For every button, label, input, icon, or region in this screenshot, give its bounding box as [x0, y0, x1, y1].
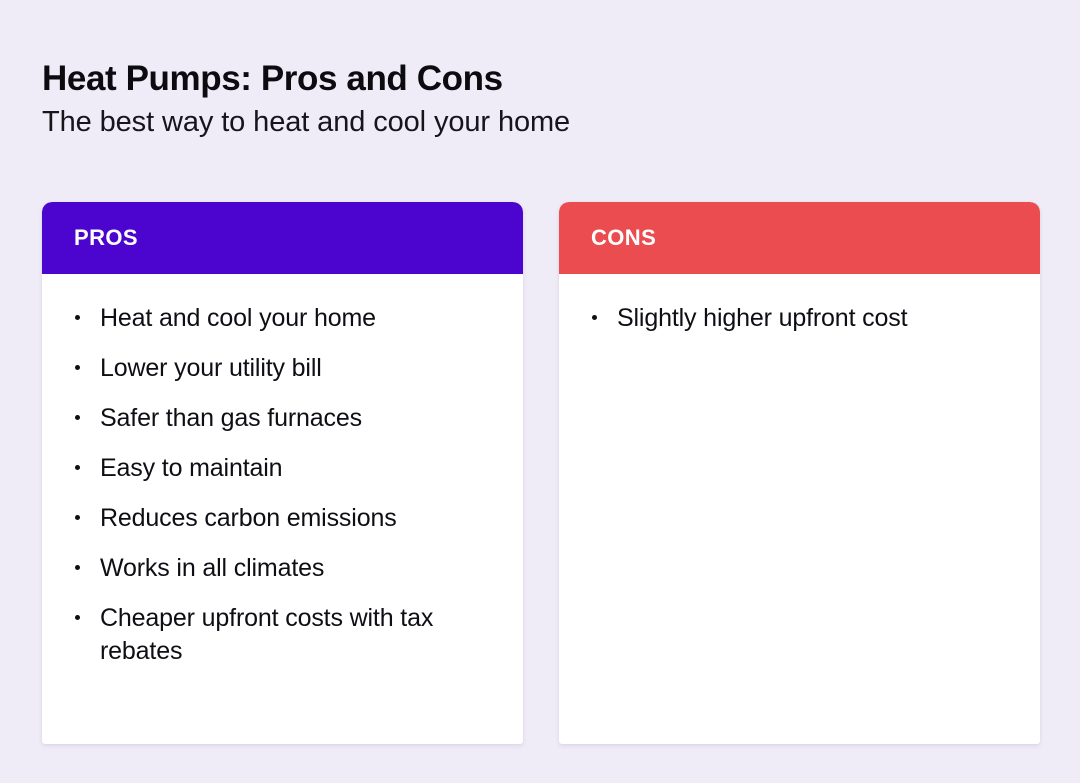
cons-card-header: CONS — [559, 202, 1040, 274]
list-item: Works in all climates — [68, 552, 497, 585]
list-item-label: Safer than gas furnaces — [100, 404, 362, 432]
heading-block: Heat Pumps: Pros and Cons The best way t… — [42, 58, 1002, 140]
cons-card-body: Slightly higher upfront cost — [559, 274, 1040, 744]
pros-card-body: Heat and cool your home Lower your utili… — [42, 274, 523, 744]
bullet-icon — [75, 565, 80, 570]
list-item-label: Lower your utility bill — [100, 354, 322, 382]
comparison-cards: PROS Heat and cool your home Lower your … — [42, 202, 1040, 744]
bullet-icon — [75, 515, 80, 520]
list-item: Heat and cool your home — [68, 302, 497, 335]
list-item: Cheaper upfront costs with tax rebates — [68, 602, 497, 668]
bullet-icon — [75, 365, 80, 370]
list-item: Lower your utility bill — [68, 352, 497, 385]
list-item-label: Reduces carbon emissions — [100, 504, 397, 532]
page-title: Heat Pumps: Pros and Cons — [42, 58, 1002, 99]
bullet-icon — [592, 315, 597, 320]
list-item: Reduces carbon emissions — [68, 502, 497, 535]
list-item: Easy to maintain — [68, 452, 497, 485]
list-item-label: Cheaper upfront costs with tax rebates — [100, 604, 433, 665]
list-item-label: Heat and cool your home — [100, 304, 376, 332]
pros-card: PROS Heat and cool your home Lower your … — [42, 202, 523, 744]
page-subtitle: The best way to heat and cool your home — [42, 105, 1002, 140]
bullet-icon — [75, 465, 80, 470]
cons-card-heading: CONS — [591, 227, 656, 249]
pros-card-heading: PROS — [74, 227, 138, 249]
list-item-label: Works in all climates — [100, 554, 324, 582]
infographic-page: Heat Pumps: Pros and Cons The best way t… — [0, 0, 1080, 783]
bullet-icon — [75, 415, 80, 420]
bullet-icon — [75, 615, 80, 620]
list-item-label: Easy to maintain — [100, 454, 282, 482]
cons-list: Slightly higher upfront cost — [585, 302, 1014, 335]
list-item: Safer than gas furnaces — [68, 402, 497, 435]
bullet-icon — [75, 315, 80, 320]
cons-card: CONS Slightly higher upfront cost — [559, 202, 1040, 744]
pros-card-header: PROS — [42, 202, 523, 274]
list-item: Slightly higher upfront cost — [585, 302, 1014, 335]
pros-list: Heat and cool your home Lower your utili… — [68, 302, 497, 668]
list-item-label: Slightly higher upfront cost — [617, 304, 907, 332]
